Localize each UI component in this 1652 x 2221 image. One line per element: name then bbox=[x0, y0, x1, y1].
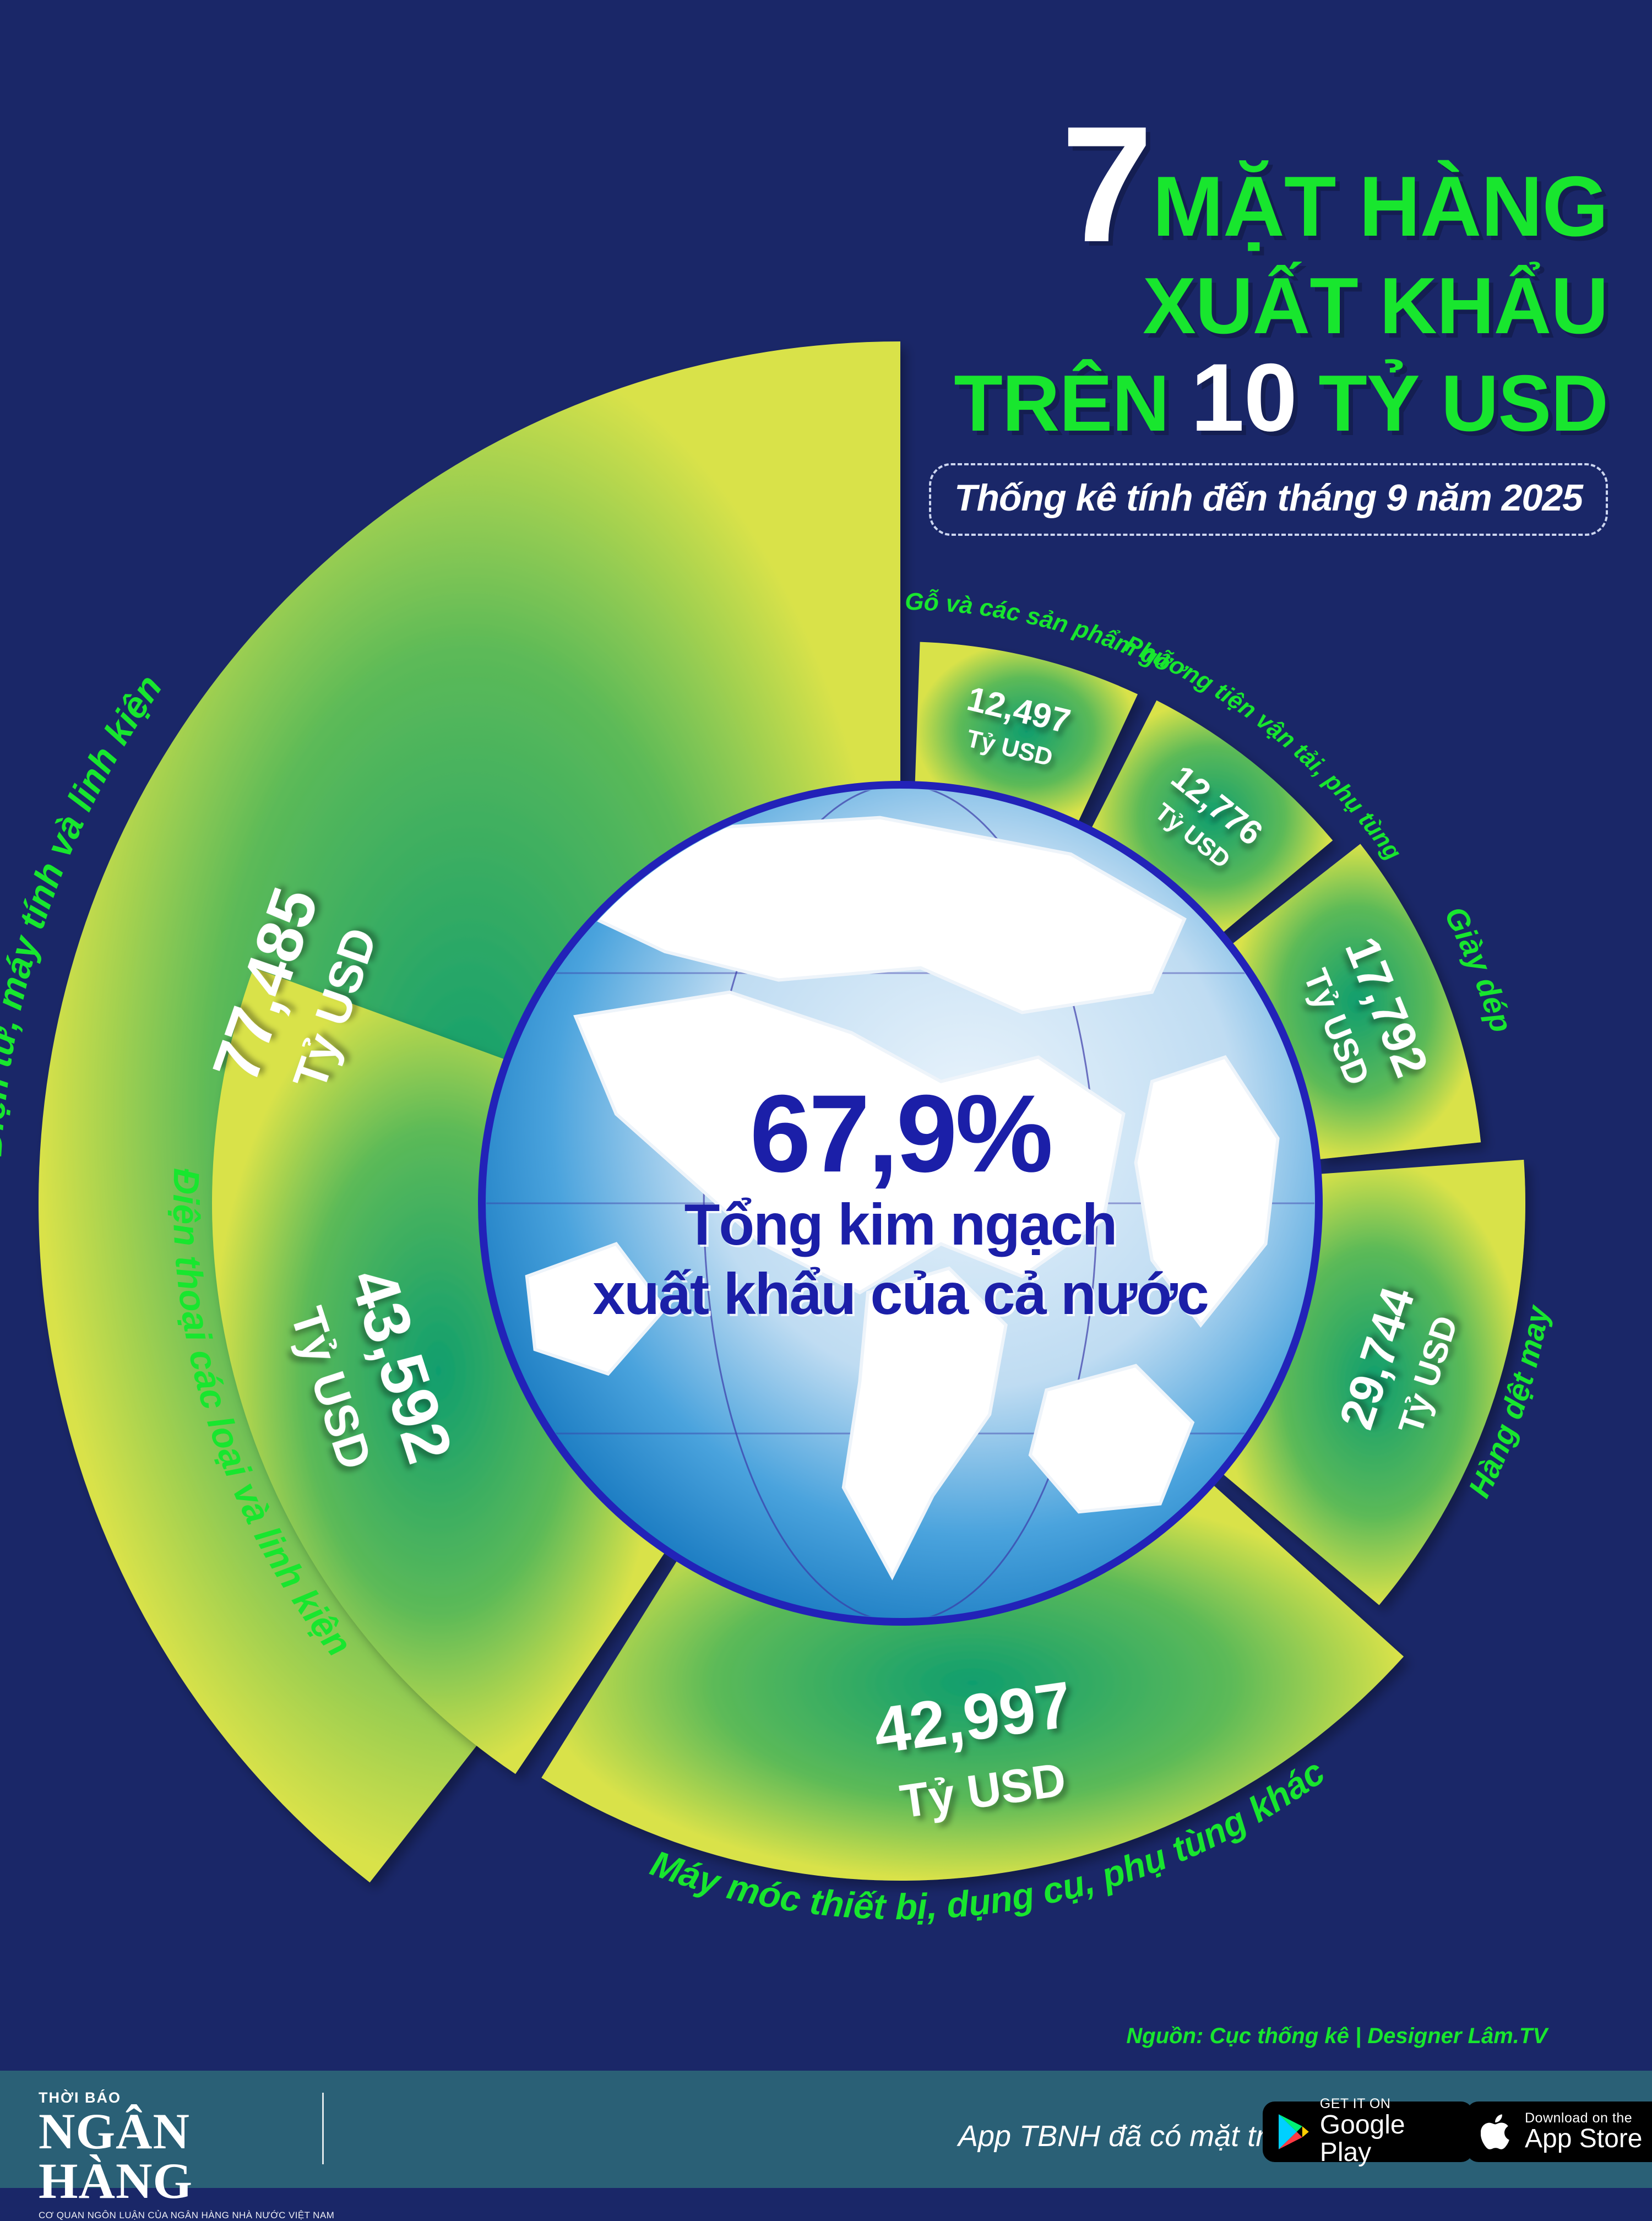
google-play-badge[interactable]: GET IT ON Google Play bbox=[1263, 2101, 1473, 2162]
logo-title: NGÂN HÀNG bbox=[39, 2106, 297, 2206]
title-ty-usd: TỶ USD bbox=[1318, 359, 1608, 448]
subtitle-text: Thống kê tính đến tháng 9 năm 2025 bbox=[954, 477, 1583, 519]
infographic-canvas: 77,485Tỷ USD12,497Tỷ USD12,776Tỷ USD17,7… bbox=[0, 0, 1652, 2188]
google-play-icon bbox=[1277, 2113, 1310, 2151]
apple-icon bbox=[1481, 2112, 1515, 2152]
app-store-large-text: App Store bbox=[1525, 2125, 1642, 2153]
title-ten: 10 bbox=[1191, 344, 1297, 452]
title-xuat-khau: XUẤT KHẨU bbox=[1143, 261, 1608, 350]
title-line-1: 7MẶT HÀNG bbox=[820, 105, 1608, 263]
footer-bar: THỜI BÁO NGÂN HÀNG CƠ QUAN NGÔN LUẬN CỦA… bbox=[0, 2071, 1652, 2188]
publication-logo[interactable]: THỜI BÁO NGÂN HÀNG CƠ QUAN NGÔN LUẬN CỦA… bbox=[39, 2089, 297, 2221]
title-tren: TRÊN bbox=[954, 359, 1169, 448]
globe-illustration bbox=[482, 785, 1319, 1622]
title-line-2: XUẤT KHẨU bbox=[820, 268, 1608, 344]
title-count: 7 bbox=[1061, 91, 1153, 276]
google-play-small-text: GET IT ON bbox=[1320, 2097, 1459, 2111]
app-promo-text: App TBNH đã có mặt trên bbox=[958, 2119, 1298, 2153]
subtitle-box: Thống kê tính đến tháng 9 năm 2025 bbox=[929, 463, 1608, 536]
google-play-large-text: Google Play bbox=[1320, 2111, 1459, 2167]
app-store-small-text: Download on the bbox=[1525, 2111, 1642, 2125]
footer-divider bbox=[322, 2093, 324, 2164]
title-block: 7MẶT HÀNG XUẤT KHẨU TRÊN 10 TỶ USD Thống… bbox=[820, 105, 1608, 536]
title-mat-hang: MẶT HÀNG bbox=[1153, 159, 1608, 254]
title-line-3: TRÊN 10 TỶ USD bbox=[820, 352, 1608, 444]
app-store-badge[interactable]: Download on the App Store bbox=[1466, 2101, 1652, 2162]
logo-tagline: CƠ QUAN NGÔN LUẬN CỦA NGÂN HÀNG NHÀ NƯỚC… bbox=[39, 2210, 297, 2221]
source-credit: Nguồn: Cục thống kê | Designer Lâm.TV bbox=[1126, 2024, 1547, 2049]
